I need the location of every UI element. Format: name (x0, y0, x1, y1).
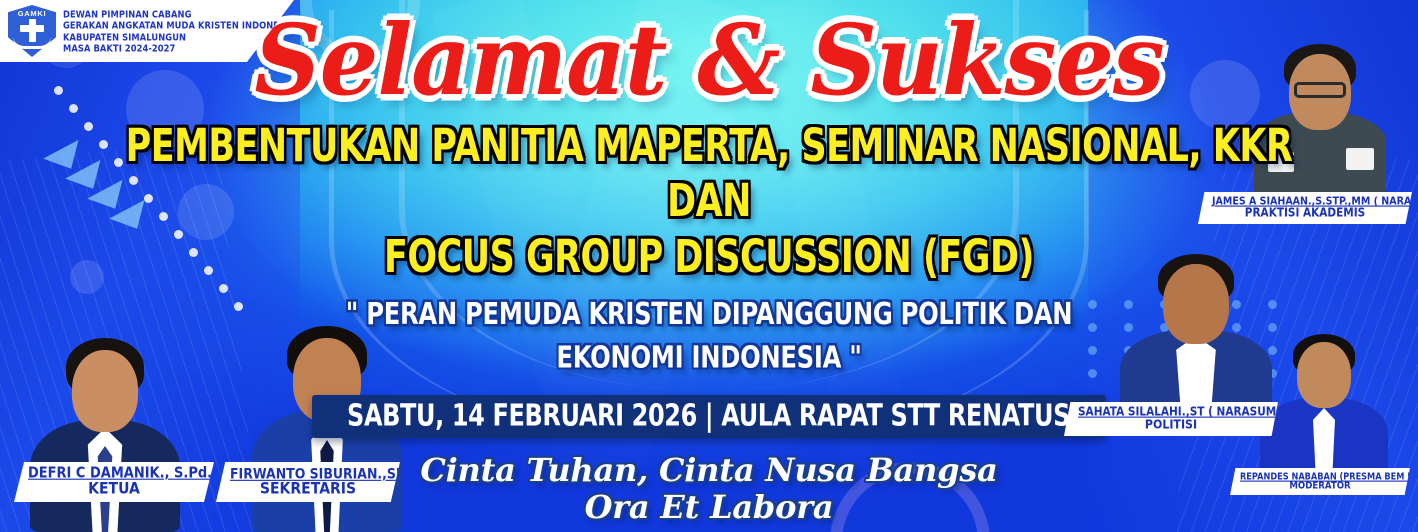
banner-root: GAMKI DEWAN PIMPINAN CABANG GERAKAN ANGK… (0, 0, 1418, 532)
tagline-line-1: Cinta Tuhan, Cinta Nusa Bangsa (0, 452, 1418, 488)
seminar-theme: " PERAN PEMUDA KRISTEN DIPANGGUNG POLITI… (21, 293, 1396, 378)
nameplate-defri-role: KETUA (28, 480, 200, 498)
nameplate-firwanto-role: SEKRETARIS (230, 480, 386, 498)
org-line-2: GERAKAN ANGKATAN MUDA KRISTEN INDONESIA (63, 20, 295, 31)
nameplate-sahata-role: POLITISI (1078, 417, 1264, 432)
nameplate-repandes-role: MODERATOR (1240, 480, 1400, 491)
nameplate-repandes: REPANDES NABABAN (PRESMA BEM UNEFA) MODE… (1230, 468, 1410, 495)
date-venue-text: SABTU, 14 FEBRUARI 2026 | AULA RAPAT STT… (348, 398, 1071, 433)
nameplate-defri: DEFRI C DAMANIK., S.Pd., Gr KETUA (14, 462, 214, 502)
nameplate-james: JAMES A SIAHAAN.,S.STP.,MM ( NARASUMBER … (1198, 192, 1412, 224)
headline-line-3: FOCUS GROUP DISCUSSION (FGD) (21, 231, 1396, 283)
nameplate-firwanto: FIRWANTO SIBURIAN.,SH SEKRETARIS (216, 462, 400, 502)
theme-line-1: " PERAN PEMUDA KRISTEN DIPANGGUNG POLITI… (21, 293, 1396, 336)
main-content: Selamat & Sukses PEMBENTUKAN PANITIA MAP… (0, 0, 1418, 525)
tagline-line-2: Ora Et Labora (0, 489, 1418, 525)
gamki-logo-icon: GAMKI (8, 5, 56, 57)
org-line-1: DEWAN PIMPINAN CABANG (63, 9, 295, 20)
org-line-3: KABUPATEN SIMALUNGUN (63, 31, 295, 42)
gamki-wordmark: GAMKI (8, 9, 56, 18)
headline-line-1: PEMBENTUKAN PANITIA MAPERTA, SEMINAR NAS… (21, 121, 1396, 173)
theme-line-2: EKONOMI INDONESIA " (21, 336, 1396, 379)
nameplate-james-role: PRAKTISI AKADEMIS (1212, 206, 1398, 220)
nameplate-sahata: SAHATA SILALAHI.,ST ( NARASUMBER ) POLIT… (1064, 402, 1278, 436)
headline-line-2: DAN (21, 176, 1396, 228)
date-venue-band: SABTU, 14 FEBRUARI 2026 | AULA RAPAT STT… (312, 395, 1105, 438)
organization-header: GAMKI DEWAN PIMPINAN CABANG GERAKAN ANGK… (0, 0, 294, 62)
